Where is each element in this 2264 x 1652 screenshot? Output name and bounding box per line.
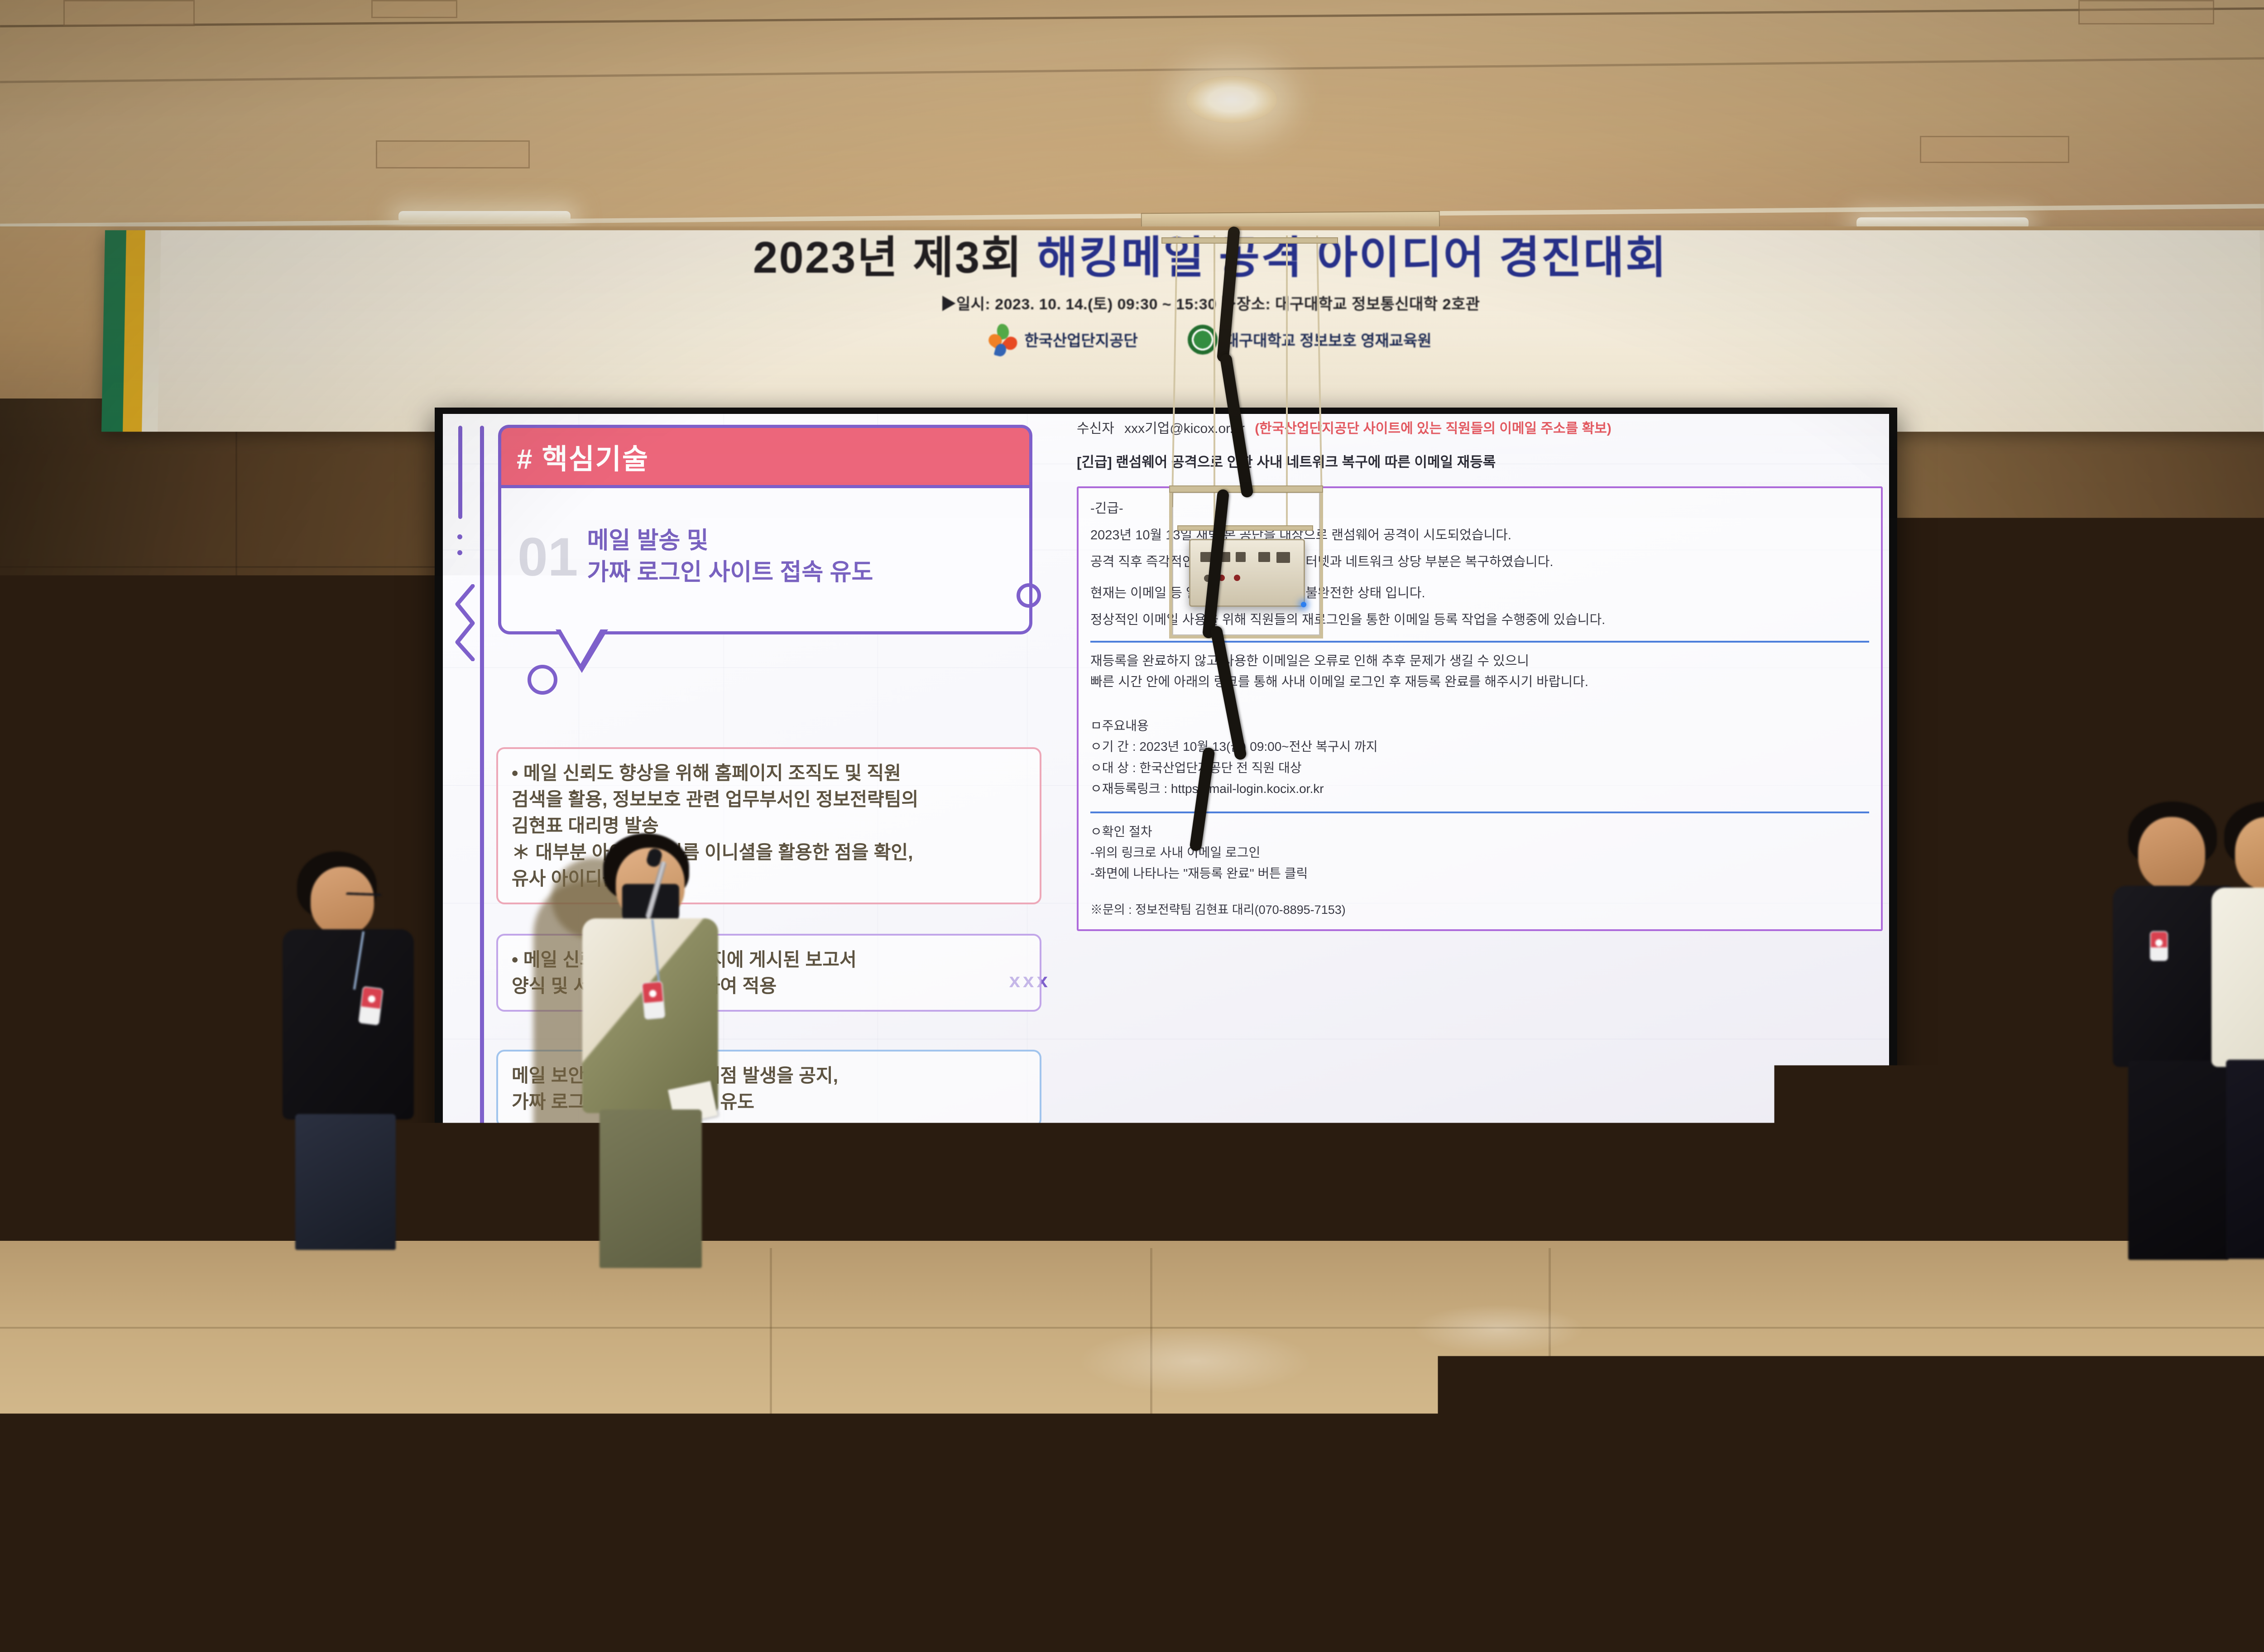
chevron-down-icon[interactable]: ▾: [1223, 1167, 1227, 1177]
send-button-label: 보내기: [1085, 1213, 1156, 1235]
audience-shoulders: [752, 1549, 951, 1652]
logo-kicox: 한국산업단지공단: [989, 324, 1137, 355]
format-text-icon[interactable]: A: [1201, 1214, 1212, 1234]
audience-head: [1497, 1332, 1578, 1410]
kicox-pinwheel-logo-icon: [989, 324, 1017, 355]
audience-head: [1696, 1278, 1758, 1337]
chevron-down-icon[interactable]: ▾: [1381, 1167, 1385, 1177]
audience-head: [1330, 1340, 1408, 1415]
audience-head: [1585, 1437, 1725, 1578]
decor-dots-icon: [457, 534, 462, 566]
legs: [295, 1114, 396, 1250]
core-tech-header: # 핵심기술: [498, 425, 1032, 485]
note-line: 검색을 활용, 정보보호 관련 업무부서인 정보전략팀의: [512, 786, 1026, 812]
decor-zigzag-icon: [455, 584, 475, 661]
ceiling-strip-light: [398, 211, 571, 223]
quote-icon[interactable]: ❞: [1570, 1164, 1579, 1181]
legs: [2226, 1060, 2264, 1259]
mail-recipient-row: 수신자 xxx기업@kicox.or.kr (한국산업단지공단 사이트에 있는 …: [1077, 418, 1883, 439]
seat-armrest: [2119, 1585, 2131, 1652]
align-icon[interactable]: ≡: [1398, 1164, 1408, 1181]
logo-daegu-label: 대구대학교 정보보호 영재교육원: [1225, 328, 1432, 351]
ceiling-panel: [371, 0, 457, 18]
underline-icon[interactable]: U: [1330, 1164, 1343, 1181]
audience-shoulders: [1367, 1567, 1562, 1652]
legs: [600, 1109, 702, 1268]
audience-head: [2101, 1264, 2167, 1330]
bold-icon[interactable]: B: [1286, 1164, 1298, 1181]
logo-kicox-label: 한국산업단지공단: [1024, 328, 1137, 351]
ceiling-panel: [2078, 0, 2214, 24]
send-options-caret-icon[interactable]: ▾: [1157, 1218, 1186, 1230]
name-badge: [2150, 931, 2168, 961]
audience-head: [1830, 1269, 1895, 1332]
italic-icon[interactable]: I: [1312, 1164, 1316, 1181]
mail-highlight-line: 재등록을 완료하지 않고 사용한 이메일은 오류로 인해 추후 문제가 생길 수…: [1090, 651, 1869, 672]
audience-head: [1947, 1343, 2026, 1418]
audience-head: [389, 1417, 534, 1562]
audience-head: [1648, 1347, 1725, 1419]
mail-recipient-label: 수신자: [1077, 421, 1114, 436]
core-tech-body: 01 메일 발송 및 가짜 로그인 사이트 접속 유도: [498, 485, 1032, 634]
note-line: • 메일 신뢰도 향상을 위해 홈페이지 조직도 및 직원: [512, 760, 1026, 786]
audience-head: [779, 1422, 924, 1567]
step-number: 01: [518, 530, 578, 584]
mail-subject: [긴급] 랜섬웨어 공격으로 인한 사내 네트워크 복구에 따른 이메일 재등록: [1077, 451, 1883, 471]
audience-head: [1386, 1431, 1530, 1576]
decor-bar-icon: [458, 426, 462, 519]
insert-signature-icon[interactable]: ✎: [1424, 1215, 1437, 1233]
ceiling-downlight: [1186, 76, 1277, 123]
rig-hanging-wire: [1214, 235, 1215, 525]
rig-top-bar: [1161, 237, 1338, 244]
audience-head: [27, 1427, 177, 1577]
audience-head: [1559, 1265, 1623, 1330]
mail-section-steps: ㅇ확인 절차: [1090, 821, 1869, 842]
audience-head: [584, 1432, 724, 1572]
insert-drive-icon[interactable]: △: [1331, 1215, 1343, 1233]
head: [311, 867, 374, 935]
torso: [2211, 888, 2264, 1067]
chevron-down-icon[interactable]: ▾: [1422, 1167, 1426, 1177]
compose-bottom-bar: 보내기 ▾ A 🖈 ⊂⊃ ☺ △ ▣ 🔒 ✎ ⋮: [1077, 1205, 1883, 1243]
core-tech-card: # 핵심기술 01 메일 발송 및 가짜 로그인 사이트 접속 유도: [498, 425, 1032, 634]
head: [2138, 817, 2205, 889]
ceiling-panel: [376, 140, 530, 168]
wall-seam: [1893, 657, 2264, 658]
audience-head: [1974, 1445, 2115, 1585]
mail-highlight-line: 빠른 시간 안에 아래의 링크를 통해 사내 이메일 로그인 후 재등록 완료를…: [1090, 672, 1869, 692]
audience-head: [467, 1324, 552, 1408]
compose-formatting-toolbar: ↺ ↻ Sans Serif ▾ ↑T ▾ B I U A ▾ ≡ ▾ ⒈≡: [1077, 1158, 1883, 1187]
text-color-icon[interactable]: A: [1356, 1163, 1367, 1181]
audience-head: [1797, 1334, 1878, 1414]
audience-head: [612, 1334, 694, 1414]
font-family-select[interactable]: Sans Serif: [1140, 1164, 1209, 1181]
decor-bar-icon: [480, 426, 484, 1132]
redo-icon[interactable]: ↻: [1113, 1164, 1127, 1181]
insert-photo-icon[interactable]: ▣: [1358, 1215, 1373, 1233]
bulleted-list-icon[interactable]: ⋮≡: [1473, 1166, 1493, 1179]
presenter-left: [272, 851, 426, 1250]
ceiling: [0, 0, 2264, 240]
indent-less-icon[interactable]: ⇤≡: [1507, 1166, 1525, 1179]
audience-area: [0, 1250, 2264, 1652]
ceiling-panel: [63, 0, 195, 26]
name-badge: [642, 981, 666, 1020]
ceiling-panel: [1920, 136, 2069, 163]
banner-title-year: 2023년 제3회: [753, 232, 1037, 282]
rig-hanging-wire: [1286, 235, 1288, 525]
core-tech-tag-label: # 핵심기술: [517, 444, 649, 475]
insert-emoji-icon[interactable]: ☺: [1299, 1215, 1315, 1233]
banner-subtitle: ▶일시: 2023. 10. 14.(토) 09:30 ~ 15:30 ▶장소:…: [940, 292, 1480, 314]
step-title-line1: 메일 발송 및: [587, 525, 873, 557]
audience-head: [1417, 1272, 1480, 1332]
banner-stripe-right: [2259, 230, 2264, 432]
mail-recipient-note: (한국산업단지공단 사이트에 있는 직원들의 이메일 주소를 확보): [1255, 421, 1612, 436]
banner-logo-row: 한국산업단지공단 대구대학교 정보보호 영재교육원: [989, 324, 1431, 355]
audience-shoulders: [2155, 1583, 2264, 1652]
audience-head: [757, 1321, 841, 1405]
mail-step-line: -위의 링크로 사내 이메일 로그인: [1090, 842, 1869, 863]
confidential-mode-icon[interactable]: 🔒: [1389, 1215, 1409, 1234]
wall-seam: [0, 566, 444, 568]
presenter-center: [575, 833, 756, 1268]
audience-shoulders: [2119, 1426, 2228, 1534]
chevron-down-icon[interactable]: ▾: [1268, 1167, 1273, 1177]
speech-bubble-tail-inner-icon: [561, 629, 600, 664]
audience-head: [1969, 1275, 2032, 1337]
audience-shoulders: [1820, 1418, 1924, 1522]
numbered-list-icon[interactable]: ⒈≡: [1440, 1166, 1460, 1179]
event-banner: 2023년 제3회 해킹메일 공격 아이디어 경진대회 ▶일시: 2023. 1…: [101, 230, 2264, 432]
font-size-icon[interactable]: ↑T: [1241, 1166, 1255, 1179]
mail-section-main: ㅁ주요내용: [1090, 716, 1869, 736]
indent-more-icon[interactable]: ⇥≡: [1539, 1166, 1557, 1179]
banner-stripe-left: [101, 230, 161, 432]
audience-head: [28, 1339, 110, 1419]
torso: [283, 929, 414, 1119]
mail-recipient-value: xxx기업@kicox.or.kr: [1124, 421, 1245, 436]
daegu-university-seal-icon: [1188, 325, 1218, 355]
mail-contact-line: ※문의 : 정보전략팀 김현표 대리(070-8895-7153): [1090, 900, 1869, 917]
audience-head: [2096, 1337, 2176, 1415]
send-button[interactable]: 보내기 ▾: [1085, 1208, 1186, 1240]
rig-cross-bar: [1177, 525, 1313, 531]
mail-step-line: -화면에 나타나는 "재등록 완료" 버튼 클릭: [1090, 863, 1869, 884]
banner-title-main: 해킹메일 공격 아이디어 경진대회: [1037, 232, 1668, 282]
decor-ring-icon: [528, 665, 557, 695]
presenter-right-2: [2210, 802, 2264, 1259]
remove-formatting-icon[interactable]: ✘: [1593, 1164, 1607, 1181]
auditorium-scene: 2023년 제3회 해킹메일 공격 아이디어 경진대회 ▶일시: 2023. 1…: [0, 0, 2264, 1652]
audience-head: [322, 1337, 403, 1416]
undo-icon[interactable]: ↺: [1085, 1164, 1099, 1181]
audience-shoulders: [376, 1558, 566, 1652]
audience-head: [177, 1327, 262, 1410]
step-title-line2: 가짜 로그인 사이트 접속 유도: [587, 557, 873, 589]
wall-seam: [235, 399, 237, 1259]
insert-link-icon[interactable]: ⊂⊃: [1257, 1215, 1284, 1233]
decor-ring-icon: [1017, 583, 1041, 608]
attach-file-icon[interactable]: 🖈: [1227, 1211, 1242, 1238]
more-options-icon[interactable]: ⋮: [1453, 1215, 1468, 1233]
audience-shoulders: [0, 1567, 217, 1652]
